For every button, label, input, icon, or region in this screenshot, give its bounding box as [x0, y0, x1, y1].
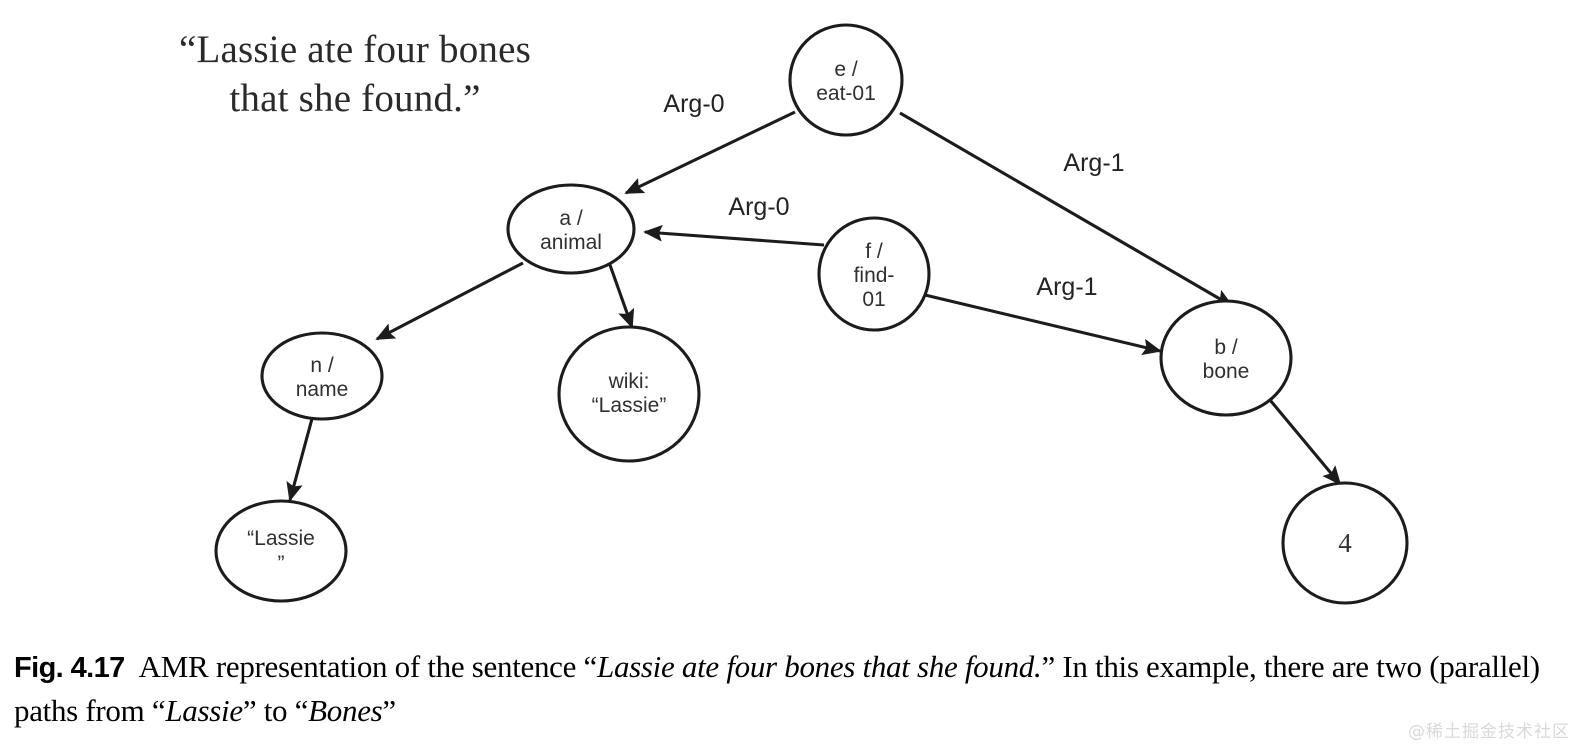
edge-eat-to-animal [626, 112, 795, 193]
amr-graph: Arg-0 Arg-1 Arg-0 Arg-1 e / eat-01 a / a… [0, 0, 1578, 630]
node-wiki-lassie-label-line-2: “Lassie” [592, 394, 667, 417]
node-name-label-line-1: n / [310, 354, 334, 377]
figure-caption-italic-3: Bones [308, 693, 382, 728]
node-eat-01-label-line-1: e / [834, 58, 858, 81]
node-animal[interactable]: a / animal [508, 185, 634, 273]
figure-caption: Fig. 4.17AMR representation of the sente… [14, 645, 1564, 733]
figure-caption-text-3: ” to “ [243, 693, 308, 728]
node-four[interactable]: 4 [1283, 483, 1407, 603]
edge-label-eat-bone: Arg-1 [1063, 149, 1124, 177]
figure-caption-text-1: AMR representation of the sentence “ [139, 649, 597, 684]
edge-find-to-bone [925, 295, 1160, 351]
figure-caption-text-4: ” [382, 693, 395, 728]
node-animal-label-line-1: a / [559, 207, 583, 230]
figure-caption-italic-1: Lassie ate four bones that she found. [597, 649, 1041, 684]
node-lassie-value-label-line-1: “Lassie [247, 527, 315, 550]
edge-animal-to-wiki [610, 265, 632, 327]
figure-caption-italic-2: Lassie [165, 693, 242, 728]
node-wiki-lassie-label-line-1: wiki: [608, 370, 650, 393]
node-name-label-line-2: name [296, 378, 349, 401]
graph-nodes: e / eat-01 a / animal f / find- 01 n / n… [216, 25, 1407, 603]
edge-bone-to-four [1270, 400, 1340, 484]
node-find-01[interactable]: f / find- 01 [819, 218, 929, 330]
node-eat-01[interactable]: e / eat-01 [790, 25, 902, 135]
figure-caption-label: Fig. 4.17 [14, 652, 125, 684]
node-name[interactable]: n / name [262, 333, 382, 419]
graph-edges [290, 112, 1340, 500]
edge-label-find-animal: Arg-0 [728, 193, 789, 221]
node-eat-01-label-line-2: eat-01 [816, 82, 876, 105]
node-bone-label-line-2: bone [1203, 360, 1250, 383]
edge-label-find-bone: Arg-1 [1036, 273, 1097, 301]
node-four-label: 4 [1338, 528, 1352, 558]
edge-find-to-animal [645, 232, 824, 245]
edge-animal-to-name [377, 263, 523, 339]
node-wiki-lassie[interactable]: wiki: “Lassie” [559, 327, 699, 461]
node-find-01-label-line-1: f / [865, 240, 883, 263]
node-bone[interactable]: b / bone [1161, 301, 1291, 415]
node-bone-label-line-1: b / [1214, 336, 1238, 359]
watermark: @稀土掘金技术社区 [1408, 717, 1570, 742]
node-find-01-label-line-3: 01 [862, 288, 885, 311]
node-lassie-value[interactable]: “Lassie ” [216, 501, 346, 601]
figure-area: “Lassie ate four bones that she found.” [0, 0, 1578, 630]
edge-name-to-lassie [290, 415, 313, 500]
node-lassie-value-label-line-2: ” [278, 552, 285, 575]
node-animal-label-line-2: animal [540, 231, 602, 254]
edge-label-eat-animal: Arg-0 [663, 90, 724, 118]
node-find-01-label-line-2: find- [854, 264, 895, 287]
node-lassie-value-shape [216, 501, 346, 601]
